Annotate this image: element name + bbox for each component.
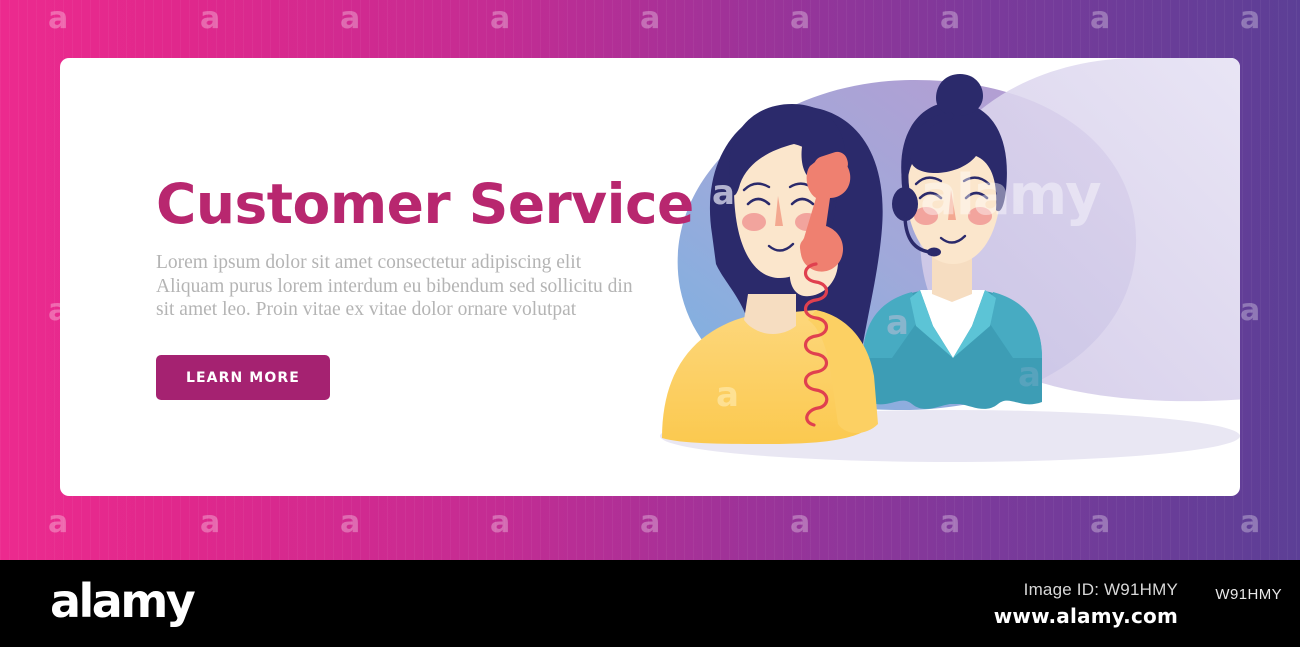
watermark-letter-a: a [490,4,510,34]
watermark-letter-a: a [1090,508,1110,538]
alamy-logo: alamy [50,578,193,624]
watermark-letter-a: a [48,508,68,538]
hero-copy: Customer Service Lorem ipsum dolor sit a… [156,176,666,400]
watermark-letter-a: a [1240,508,1260,538]
watermark-letter-a: a [1240,4,1260,34]
woman-blush-left [742,213,766,231]
headset-earcup [892,187,918,221]
watermark-letter-a: a [790,4,810,34]
watermark-letter-a: a [200,508,220,538]
learn-more-button[interactable]: LEARN MORE [156,355,330,400]
image-id-label: Image ID: W91HMY [1024,580,1178,600]
watermark-letter-a: a [340,508,360,538]
image-id-badge: W91HMY [1215,586,1282,603]
hero-body-text: Lorem ipsum dolor sit amet consectetur a… [156,251,646,322]
watermark-letter-a: a [490,508,510,538]
screenshot-root: aaaaaaaaaaaaaaaaaaaaaaaaaaaaaaaaaaaaaaaa… [0,0,1300,647]
agent-blush-left [914,207,938,225]
website-label: www.alamy.com [994,604,1178,628]
watermark-letter-a: a [940,4,960,34]
watermark-letter-a: a [48,4,68,34]
customer-service-illustration: a alamy a a a [620,58,1240,496]
watermark-letter-a: a [790,508,810,538]
watermark-letter-a: a [1240,296,1260,326]
page-title: Customer Service [156,176,666,233]
watermark-letter-a: a [1090,4,1110,34]
agent-blush-right [968,207,992,225]
hero-card: a alamy a a a Customer Service Lorem ips… [60,58,1240,496]
watermark-letter-a: a [340,4,360,34]
agent-hair-bun [936,74,983,116]
watermark-letter-a: a [200,4,220,34]
watermark-letter-a: a [940,508,960,538]
headset-mic [927,248,941,257]
alamy-footer-bar: alamy Image ID: W91HMY www.alamy.com W91… [0,560,1300,647]
watermark-letter-a: a [640,508,660,538]
watermark-letter-a: a [640,4,660,34]
